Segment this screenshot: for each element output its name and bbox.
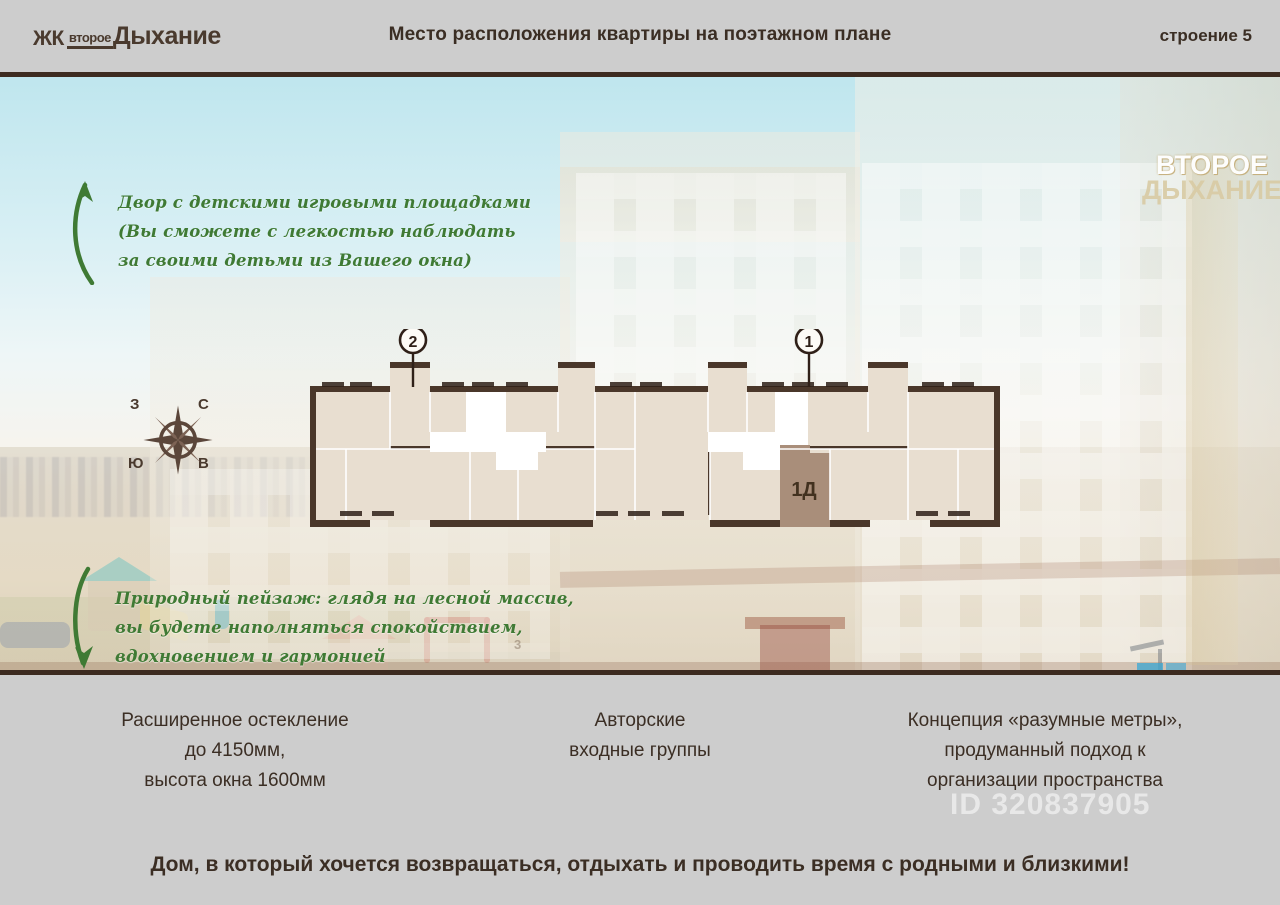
- feature-concept-line-2: продуманный подход к: [845, 736, 1245, 766]
- photo-street-sign-1: [1137, 663, 1163, 670]
- plan-highlight-unit: 1Д: [780, 445, 830, 527]
- feature-concept-line-1: Концепция «разумные метры»,: [845, 706, 1245, 736]
- feature-glazing-line-3: высота окна 1600мм: [40, 766, 430, 796]
- note-landscape-line-1: Природный пейзаж: глядя на лесной массив…: [115, 584, 574, 613]
- photo-stage: 4 3 ВТОРОЕ ДЫХАНИЕ Двор с детскими игров…: [0, 77, 1280, 670]
- feature-glazing: Расширенное остекление до 4150мм, высота…: [40, 706, 430, 796]
- note-courtyard-line-1: Двор с детскими игровыми площадками: [118, 188, 531, 217]
- feature-entrances-line-2: входные группы: [455, 736, 825, 766]
- page-title: Место расположения квартиры на поэтажном…: [0, 24, 1280, 46]
- tagline: Дом, в который хочется возвращаться, отд…: [0, 853, 1280, 877]
- note-courtyard-line-2: (Вы сможете с легкостью наблюдать: [118, 217, 531, 246]
- compass: З С Ю В: [128, 395, 224, 487]
- note-courtyard: Двор с детскими игровыми площадками (Вы …: [118, 188, 531, 275]
- note-landscape-line-3: вдохновением и гармонией: [115, 642, 574, 670]
- note-courtyard-line-3: за своими детьми из Вашего окна): [118, 246, 531, 275]
- building-sign-line2: ДЫХАНИЕ: [1142, 178, 1280, 203]
- feature-concept-line-3: организации пространства: [845, 766, 1245, 796]
- header-bar: ЖКвтороеДыхание Место расположения кварт…: [0, 0, 1280, 72]
- building-label: строение 5: [1160, 26, 1252, 46]
- arrow-down-curved-icon: [64, 565, 104, 670]
- features-row: Расширенное остекление до 4150мм, высота…: [0, 700, 1280, 810]
- feature-entrances: Авторские входные группы: [455, 706, 825, 766]
- note-landscape-line-2: вы будете наполняться спокойствием,: [115, 613, 574, 642]
- entrance-marker-2-label: 2: [409, 334, 418, 351]
- feature-entrances-line-1: Авторские: [455, 706, 825, 736]
- entrance-marker-1: 1: [796, 329, 822, 387]
- entrance-marker-1-label: 1: [805, 334, 814, 351]
- highlight-unit-label: 1Д: [791, 479, 816, 501]
- arrow-up-curved-icon: [66, 175, 106, 285]
- photo-entrance-4: [760, 625, 830, 670]
- divider-bottom: [0, 670, 1280, 675]
- photo-car: [0, 622, 70, 648]
- floor-plan[interactable]: .u { fill:#e8ded0; } .w { fill:#4a372a; …: [310, 329, 1000, 539]
- compass-rose-icon: [142, 404, 214, 476]
- note-landscape: Природный пейзаж: глядя на лесной массив…: [115, 584, 574, 670]
- poster-root: ЖКвтороеДыхание Место расположения кварт…: [0, 0, 1280, 905]
- feature-glazing-line-1: Расширенное остекление: [40, 706, 430, 736]
- compass-label-west: З: [130, 396, 139, 413]
- feature-concept: Концепция «разумные метры», продуманный …: [845, 706, 1245, 796]
- feature-glazing-line-2: до 4150мм,: [40, 736, 430, 766]
- photo-street-sign-2: [1166, 663, 1186, 670]
- floor-plan-svg: .u { fill:#e8ded0; } .w { fill:#4a372a; …: [310, 329, 1000, 539]
- building-vertical-sign: ВТОРОЕ ДЫХАНИЕ: [1192, 153, 1232, 663]
